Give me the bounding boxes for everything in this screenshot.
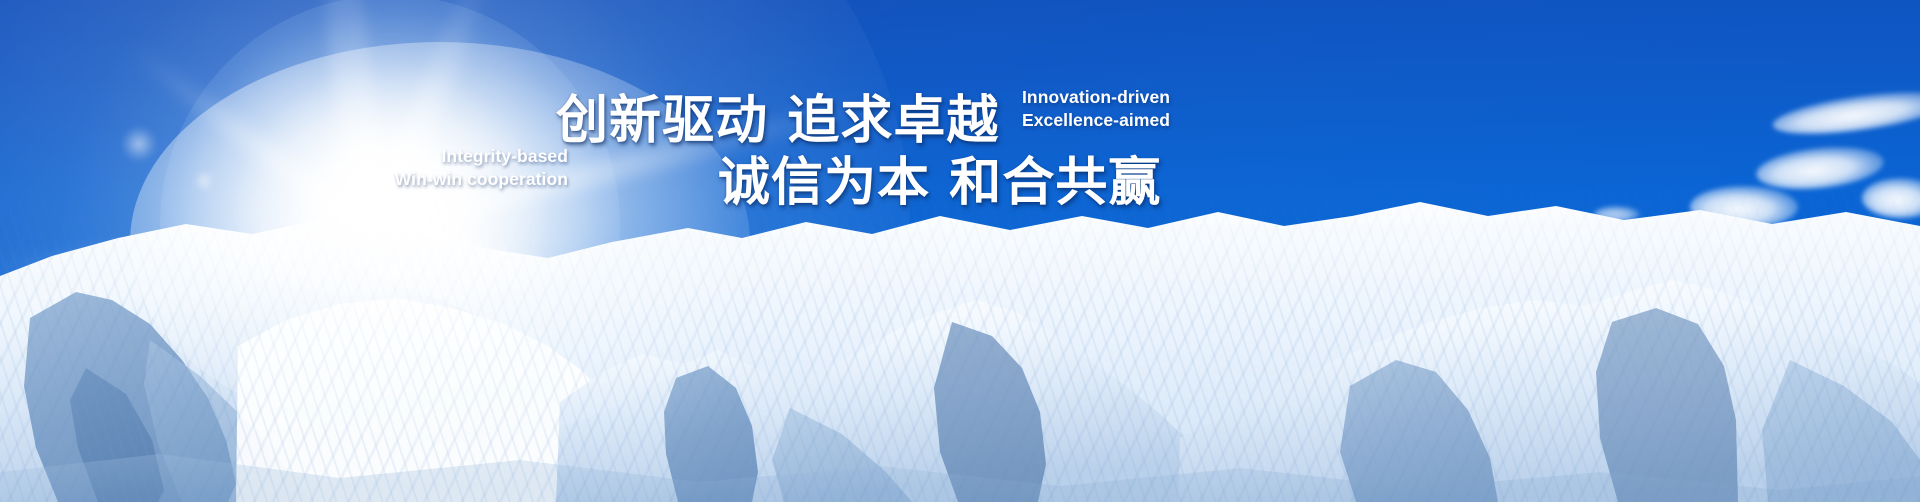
hero-banner: 创新驱动 追求卓越 Innovation-driven Excellence-a… [0,0,1920,502]
slogan-en-integrity-based: Integrity-based [395,145,568,168]
lens-flare-spot-1 [122,127,156,161]
slogan-en-winwin-cooperation: Win-win cooperation [395,168,568,191]
slogan-en-excellence-aimed: Excellence-aimed [1022,109,1170,132]
slogan-line-2-chinese: 诚信为本 和合共赢 [718,140,1161,215]
slogan-en-innovation-driven: Innovation-driven [1022,86,1170,109]
mountain-range [0,172,1920,502]
slogan-english-left: Integrity-based Win-win cooperation [395,145,568,191]
slogan-english-right: Innovation-driven Excellence-aimed [1022,86,1170,132]
